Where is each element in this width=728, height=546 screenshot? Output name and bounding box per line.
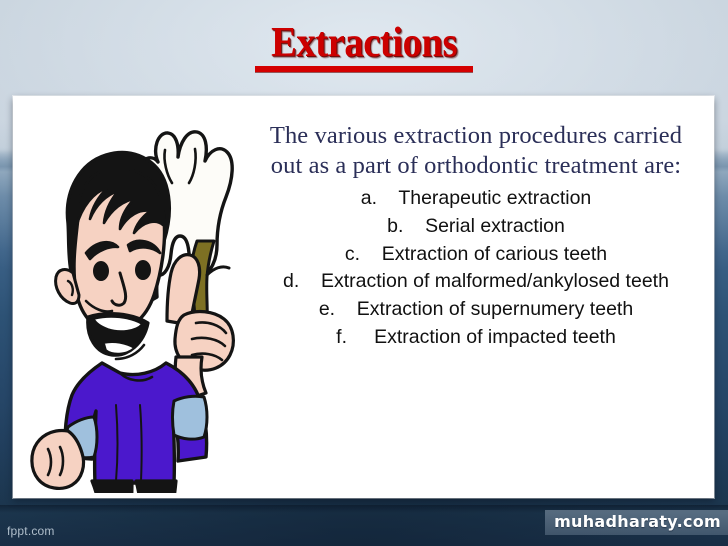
list-item-label: Extraction of impacted teeth [374,326,616,348]
list-item-spacer [341,298,357,320]
list-item-marker: f. [336,326,347,348]
list-item-spacer [409,215,425,237]
presentation-slide: Extractions [0,0,728,546]
fppt-watermark: fppt.com [7,524,55,538]
list-item: f. Extraction of impacted teeth [256,324,696,352]
list-item-marker: a. [361,187,377,209]
list-item-marker: e. [319,298,335,320]
head-shape [56,153,170,359]
legs-shape [83,481,176,493]
content-card: The various extraction procedures carrie… [13,96,714,498]
list-item-label: Extraction of carious teeth [382,243,607,265]
extraction-procedures-list: a. Therapeutic extraction b. Serial extr… [256,185,696,351]
list-item-spacer [365,243,381,265]
list-item: a. Therapeutic extraction [256,185,696,213]
intro-paragraph: The various extraction procedures carrie… [266,121,686,181]
list-item: c. Extraction of carious teeth [256,241,696,269]
left-fist-shape [32,431,84,489]
list-item-marker: d. [283,270,299,292]
slide-text-column: The various extraction procedures carrie… [256,121,696,351]
list-item-label: Therapeutic extraction [398,187,591,209]
list-item-spacer [352,326,374,348]
list-item-marker: b. [387,215,403,237]
slide-title: Extractions [267,22,460,64]
list-item-spacer [305,270,321,292]
list-item-label: Extraction of supernumery teeth [357,298,633,320]
content-card-inner: The various extraction procedures carrie… [18,101,709,493]
slide-title-container: Extractions [0,22,728,72]
title-underline [255,66,473,72]
list-item-spacer [382,187,398,209]
list-item: d. Extraction of malformed/ankylosed tee… [256,268,696,296]
muhadharaty-watermark-box: muhadharaty.com [545,510,728,535]
list-item-marker: c. [345,243,360,265]
list-item: b. Serial extraction [256,213,696,241]
list-item-label: Extraction of malformed/ankylosed teeth [321,270,669,292]
dentist-cartoon-illustration [24,105,256,493]
muhadharaty-watermark: muhadharaty.com [554,512,721,531]
list-item: e. Extraction of supernumery teeth [256,296,696,324]
list-item-label: Serial extraction [425,215,565,237]
